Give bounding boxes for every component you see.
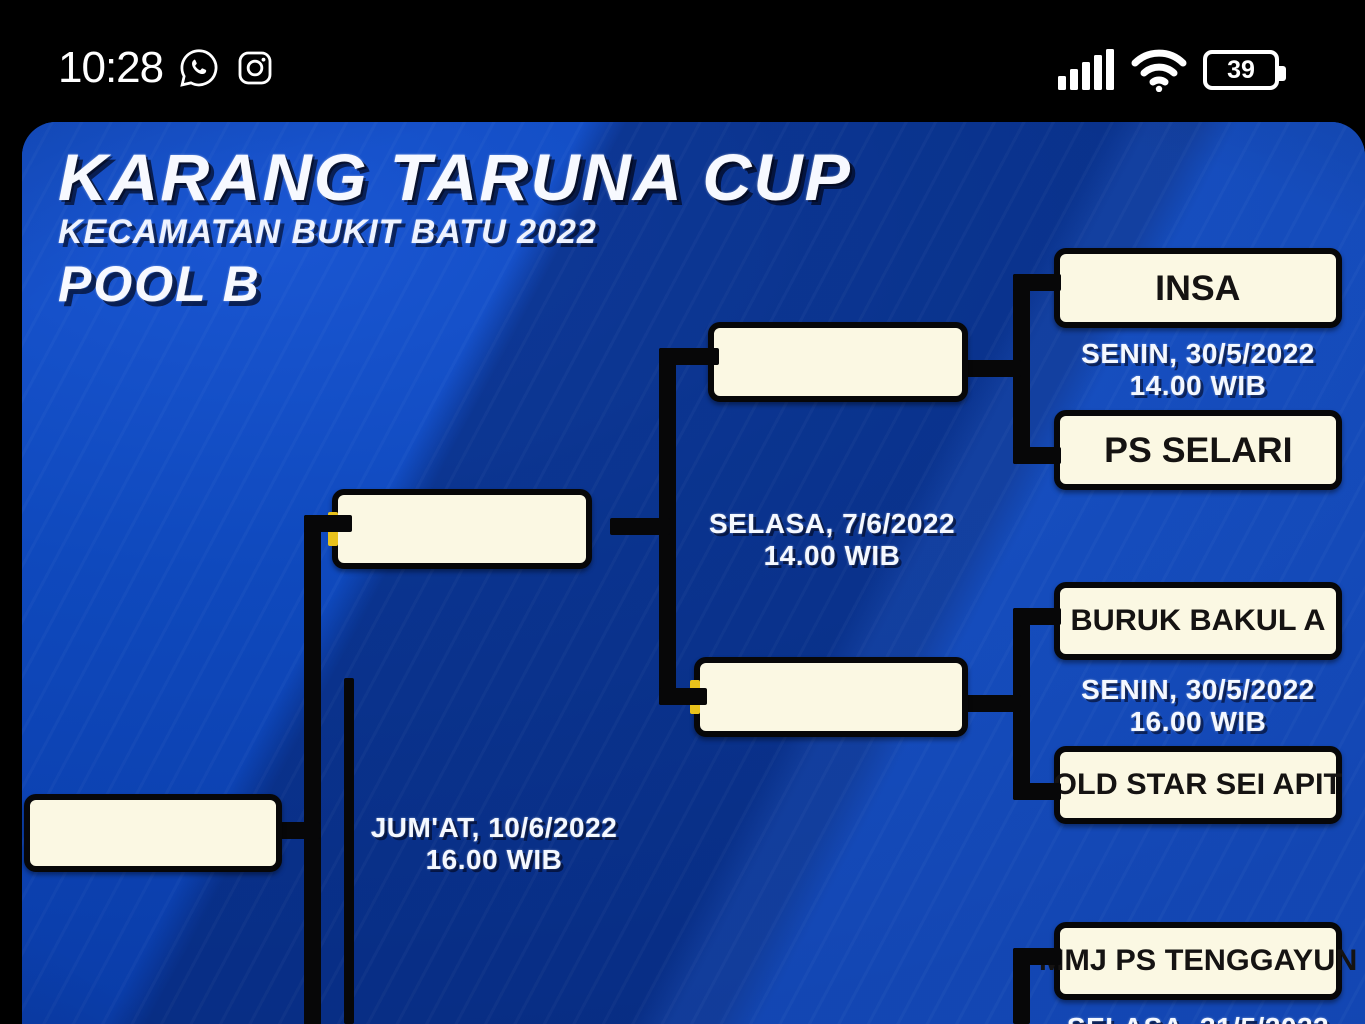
connector-h-final-top [304,515,352,532]
team-name: INSA [1155,271,1240,306]
status-bar: 10:28 39 [0,0,1365,122]
connector-h-sf-top [659,348,719,365]
match-info-round1-1: SENIN, 30/5/2022 14.00 WIB [1054,338,1342,403]
whatsapp-icon [177,46,221,90]
match-info-round1-3: SELASA, 31/5/2022 [1054,1012,1342,1024]
slot-old-star-sei-apit[interactable]: OLD STAR SEI APIT [1054,746,1342,824]
connector-h-sf-out [610,518,670,535]
slot-insa[interactable]: INSA [1054,248,1342,328]
slot-buruk-bakul-a[interactable]: BURUK BAKUL A [1054,582,1342,660]
connector-h-m3-top [1013,948,1061,965]
connector-h-m2-top [1013,608,1061,625]
status-bar-right: 39 [1057,48,1279,92]
team-name: BURUK BAKUL A [1071,606,1326,636]
slot-final-top[interactable] [332,489,592,569]
match-info-final: JUM'AT, 10/6/2022 16.00 WIB [344,812,644,877]
connector-v-final [304,515,321,1024]
poster-title-block: KARANG TARUNA CUP KECAMATAN BUKIT BATU 2… [58,146,829,309]
team-name: OLD STAR SEI APIT [1053,770,1342,800]
match-date: SELASA, 7/6/2022 [709,508,955,539]
match-date: SELASA, 31/5/2022 [1067,1012,1329,1024]
cellular-signal-icon [1057,49,1115,91]
slot-semifinal-top[interactable] [708,322,968,402]
match-date: SENIN, 30/5/2022 [1081,674,1315,705]
match-info-round1-2: SENIN, 30/5/2022 16.00 WIB [1054,674,1342,739]
poster-subtitle: KECAMATAN BUKIT BATU 2022 [58,215,829,249]
poster-pool-label: POOL B [58,259,829,309]
match-time: 16.00 WIB [344,844,644,876]
connector-h-m1-out [966,360,1021,377]
match-time: 14.00 WIB [667,540,997,572]
battery-level-label: 39 [1227,58,1255,83]
connector-h-m2-out [966,695,1021,712]
instagram-icon [235,48,275,88]
poster-title: KARANG TARUNA CUP [58,146,852,209]
slot-mmj-ps-tenggayun[interactable]: MMJ PS TENGGAYUN [1054,922,1342,1000]
slot-semifinal-bottom[interactable] [694,657,968,737]
connector-h-m1-top [1013,274,1061,291]
slot-champion[interactable] [24,794,282,872]
match-info-semifinal: SELASA, 7/6/2022 14.00 WIB [667,508,997,573]
battery-icon: 39 [1203,50,1279,90]
wifi-icon [1131,48,1187,92]
tournament-bracket-poster: KARANG TARUNA CUP KECAMATAN BUKIT BATU 2… [22,122,1365,1024]
match-date: JUM'AT, 10/6/2022 [371,812,618,843]
status-bar-clock: 10:28 [58,46,163,90]
connector-h-sf-bottom [659,688,707,705]
team-name: MMJ PS TENGGAYUN [1039,946,1358,976]
match-time: 14.00 WIB [1054,370,1342,402]
slot-ps-selari[interactable]: PS SELARI [1054,410,1342,490]
connector-h-m2-bottom [1013,783,1061,800]
match-time: 16.00 WIB [1054,706,1342,738]
connector-h-m1-bottom [1013,447,1061,464]
team-name: PS SELARI [1104,433,1292,468]
match-date: SENIN, 30/5/2022 [1081,338,1315,369]
status-bar-left: 10:28 [58,46,275,90]
